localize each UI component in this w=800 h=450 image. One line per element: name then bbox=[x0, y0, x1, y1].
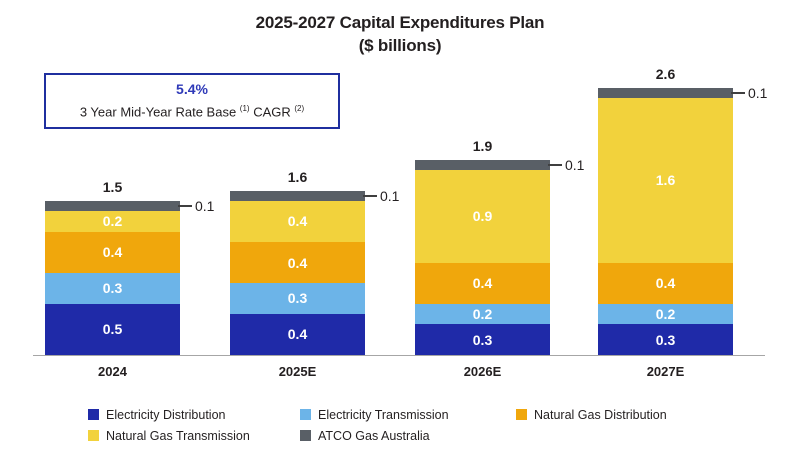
legend-item[interactable]: Electricity Transmission bbox=[300, 405, 516, 424]
bar-segment-label: 0.9 bbox=[473, 209, 492, 223]
bar-segment-label: 0.3 bbox=[103, 281, 122, 295]
x-axis-label-2026e: 2026E bbox=[415, 364, 550, 379]
callout-leader-line bbox=[363, 195, 377, 197]
bar-segment[interactable]: 0.2 bbox=[598, 304, 733, 325]
outside-value-label: 0.1 bbox=[380, 189, 399, 203]
bar-segment[interactable]: 0.3 bbox=[45, 273, 180, 304]
bar-segment[interactable]: 1.6 bbox=[598, 98, 733, 262]
outside-value-callout: 0.1 bbox=[548, 159, 584, 171]
legend-swatch-icon bbox=[516, 409, 527, 420]
legend-label: Natural Gas Distribution bbox=[534, 408, 667, 422]
bar-segment-label: 0.3 bbox=[473, 333, 492, 347]
bar-total-label: 1.5 bbox=[45, 179, 180, 195]
bar-total-label: 2.6 bbox=[598, 66, 733, 82]
bar-group-2026e: 1.90.10.90.40.20.30.12026E bbox=[415, 0, 550, 450]
x-axis-label-2024: 2024 bbox=[45, 364, 180, 379]
bar-segment[interactable]: 0.4 bbox=[230, 201, 365, 242]
bar-stack: 0.10.40.40.30.4 bbox=[230, 191, 365, 355]
bar-segment[interactable]: 0.9 bbox=[415, 170, 550, 262]
bar-segment[interactable]: 0.5 bbox=[45, 304, 180, 355]
bar-segment-label: 0.2 bbox=[473, 307, 492, 321]
outside-value-label: 0.1 bbox=[565, 158, 584, 172]
bar-segment[interactable]: 0.4 bbox=[415, 263, 550, 304]
legend-swatch-icon bbox=[300, 430, 311, 441]
legend-swatch-icon bbox=[300, 409, 311, 420]
bar-segment-label: 0.4 bbox=[103, 245, 122, 259]
bar-segment[interactable]: 0.2 bbox=[415, 304, 550, 325]
legend-swatch-icon bbox=[88, 409, 99, 420]
legend-label: Electricity Distribution bbox=[106, 408, 225, 422]
outside-value-label: 0.1 bbox=[195, 199, 214, 213]
bar-segment[interactable]: 0.1 bbox=[415, 160, 550, 170]
outside-value-callout: 0.1 bbox=[363, 190, 399, 202]
bar-segment-label: 0.4 bbox=[288, 214, 307, 228]
bar-group-2024: 1.50.10.20.40.30.50.12024 bbox=[45, 0, 180, 450]
bar-segment[interactable]: 0.4 bbox=[598, 263, 733, 304]
outside-value-callout: 0.1 bbox=[731, 87, 767, 99]
legend-label: ATCO Gas Australia bbox=[318, 429, 430, 443]
bar-stack: 0.10.20.40.30.5 bbox=[45, 201, 180, 355]
bar-segment-label: 1.6 bbox=[656, 173, 675, 187]
bar-segment[interactable]: 0.3 bbox=[415, 324, 550, 355]
legend-item[interactable]: Natural Gas Distribution bbox=[516, 405, 728, 424]
bar-total-label: 1.6 bbox=[230, 169, 365, 185]
bar-stack: 0.10.90.40.20.3 bbox=[415, 160, 550, 355]
bar-segment-label: 0.4 bbox=[473, 276, 492, 290]
legend-item[interactable]: ATCO Gas Australia bbox=[300, 426, 516, 445]
bar-segment[interactable]: 0.4 bbox=[230, 242, 365, 283]
outside-value-label: 0.1 bbox=[748, 86, 767, 100]
callout-leader-line bbox=[548, 164, 562, 166]
bar-segment[interactable]: 0.3 bbox=[230, 283, 365, 314]
bar-total-label: 1.9 bbox=[415, 138, 550, 154]
bar-segment[interactable]: 0.3 bbox=[598, 324, 733, 355]
bar-segment[interactable]: 0.1 bbox=[230, 191, 365, 201]
plot-area: 1.50.10.20.40.30.50.120241.60.10.40.40.3… bbox=[0, 0, 800, 450]
callout-leader-line bbox=[178, 205, 192, 207]
legend-label: Natural Gas Transmission bbox=[106, 429, 250, 443]
outside-value-callout: 0.1 bbox=[178, 200, 214, 212]
bar-segment-label: 0.2 bbox=[656, 307, 675, 321]
bar-group-2027e: 2.60.11.60.40.20.30.12027E bbox=[598, 0, 733, 450]
bar-segment-label: 0.4 bbox=[288, 256, 307, 270]
bar-segment[interactable]: 0.1 bbox=[45, 201, 180, 211]
legend-swatch-icon bbox=[88, 430, 99, 441]
callout-leader-line bbox=[731, 92, 745, 94]
bar-segment[interactable]: 0.2 bbox=[45, 211, 180, 232]
bar-segment[interactable]: 0.1 bbox=[598, 88, 733, 98]
legend-item[interactable]: Electricity Distribution bbox=[88, 405, 300, 424]
legend-item[interactable]: Natural Gas Transmission bbox=[88, 426, 300, 445]
bar-segment-label: 0.4 bbox=[288, 327, 307, 341]
bar-group-2025e: 1.60.10.40.40.30.40.12025E bbox=[230, 0, 365, 450]
bar-segment-label: 0.3 bbox=[288, 291, 307, 305]
bar-segment[interactable]: 0.4 bbox=[230, 314, 365, 355]
chart-legend: Electricity DistributionElectricity Tran… bbox=[88, 405, 728, 447]
legend-label: Electricity Transmission bbox=[318, 408, 449, 422]
bar-segment[interactable]: 0.4 bbox=[45, 232, 180, 273]
x-axis-label-2027e: 2027E bbox=[598, 364, 733, 379]
bar-segment-label: 0.3 bbox=[656, 333, 675, 347]
bar-segment-label: 0.2 bbox=[103, 214, 122, 228]
bar-segment-label: 0.5 bbox=[103, 322, 122, 336]
bar-stack: 0.11.60.40.20.3 bbox=[598, 88, 733, 355]
x-axis-label-2025e: 2025E bbox=[230, 364, 365, 379]
bar-segment-label: 0.4 bbox=[656, 276, 675, 290]
